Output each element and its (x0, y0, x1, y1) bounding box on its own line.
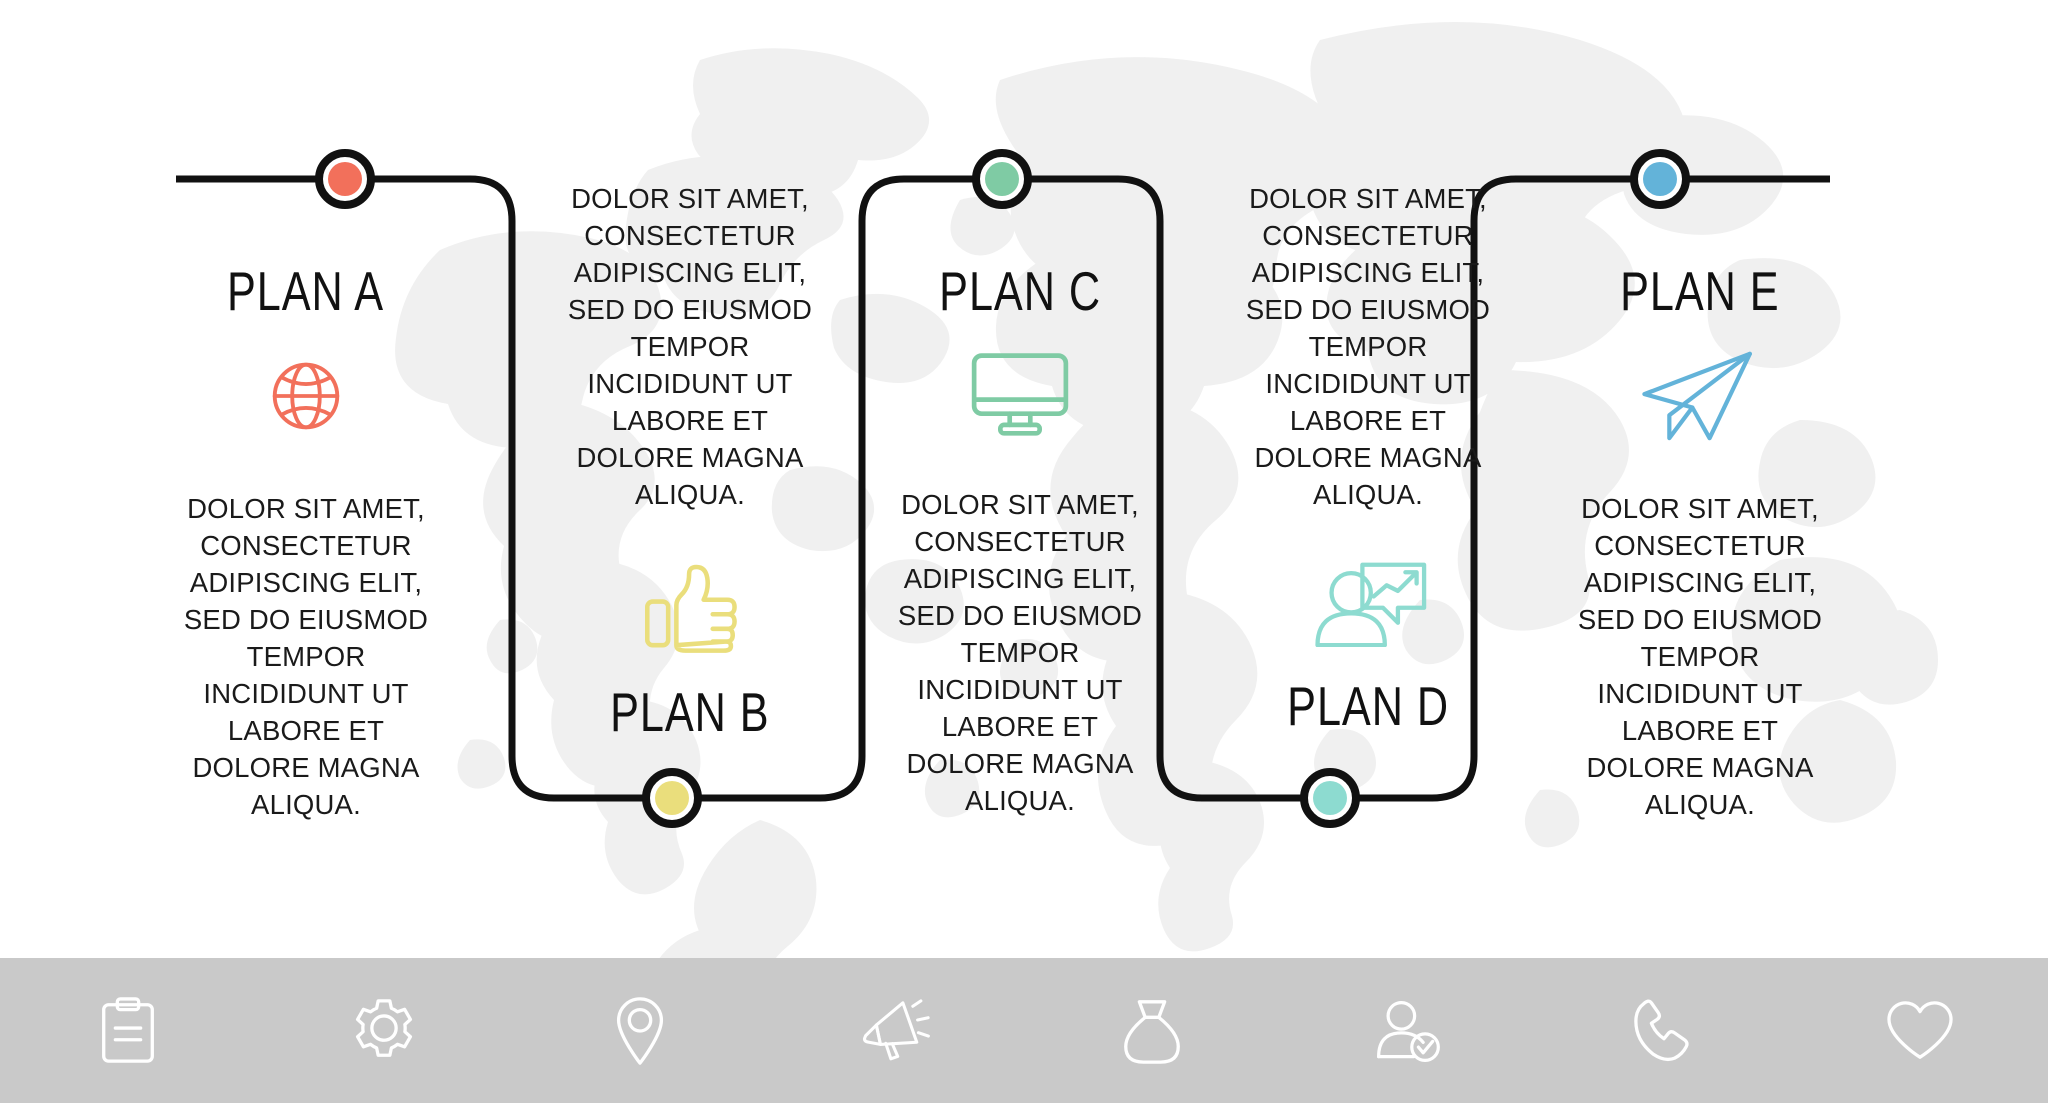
paper-plane-icon (1640, 350, 1760, 442)
node-plan-c[interactable] (976, 153, 1028, 205)
infographic-canvas: PLAN A DOLOR SIT AMET, CONSECTETUR ADIPI… (0, 0, 2048, 1103)
plan-card-b[interactable]: DOLOR SIT AMET, CONSECTETUR ADIPISCING E… (550, 180, 830, 735)
plan-b-body: DOLOR SIT AMET, CONSECTETUR ADIPISCING E… (550, 180, 830, 513)
plan-d-body: DOLOR SIT AMET, CONSECTETUR ADIPISCING E… (1228, 180, 1508, 513)
user-verified-icon[interactable] (1372, 995, 1444, 1067)
plan-card-a[interactable]: PLAN A DOLOR SIT AMET, CONSECTETUR ADIPI… (166, 268, 446, 823)
money-bag-icon[interactable] (1116, 995, 1188, 1067)
node-plan-a[interactable] (319, 153, 371, 205)
phone-icon[interactable] (1628, 995, 1700, 1067)
node-plan-e[interactable] (1634, 153, 1686, 205)
gear-icon[interactable] (348, 995, 420, 1067)
node-plan-d[interactable] (1304, 772, 1356, 824)
node-plan-b[interactable] (646, 772, 698, 824)
plans-content: PLAN A DOLOR SIT AMET, CONSECTETUR ADIPI… (0, 0, 2048, 1103)
heart-icon[interactable] (1884, 995, 1956, 1067)
plan-card-d[interactable]: DOLOR SIT AMET, CONSECTETUR ADIPISCING E… (1228, 180, 1508, 729)
globe-icon (260, 350, 352, 442)
plan-e-title: PLAN E (1620, 264, 1779, 318)
plan-b-title: PLAN B (610, 685, 769, 739)
plan-e-body: DOLOR SIT AMET, CONSECTETUR ADIPISCING E… (1560, 490, 1840, 823)
monitor-icon (968, 350, 1072, 438)
plan-d-title: PLAN D (1287, 679, 1449, 733)
clipboard-icon[interactable] (92, 995, 164, 1067)
plan-c-body: DOLOR SIT AMET, CONSECTETUR ADIPISCING E… (880, 486, 1160, 819)
map-pin-icon[interactable] (604, 995, 676, 1067)
megaphone-icon[interactable] (860, 995, 932, 1067)
bottom-icon-bar (0, 958, 2048, 1103)
plan-card-e[interactable]: PLAN E DOLOR SIT AMET, CONSECTETUR ADIPI… (1560, 268, 1840, 823)
plan-card-c[interactable]: PLAN C DOLOR SIT AMET, CONSECTETUR ADIPI… (880, 268, 1160, 819)
plan-a-title: PLAN A (227, 264, 384, 318)
thumbs-up-icon (640, 561, 740, 653)
plan-c-title: PLAN C (939, 264, 1101, 318)
user-growth-chart-icon (1308, 561, 1428, 647)
plan-a-body: DOLOR SIT AMET, CONSECTETUR ADIPISCING E… (166, 490, 446, 823)
